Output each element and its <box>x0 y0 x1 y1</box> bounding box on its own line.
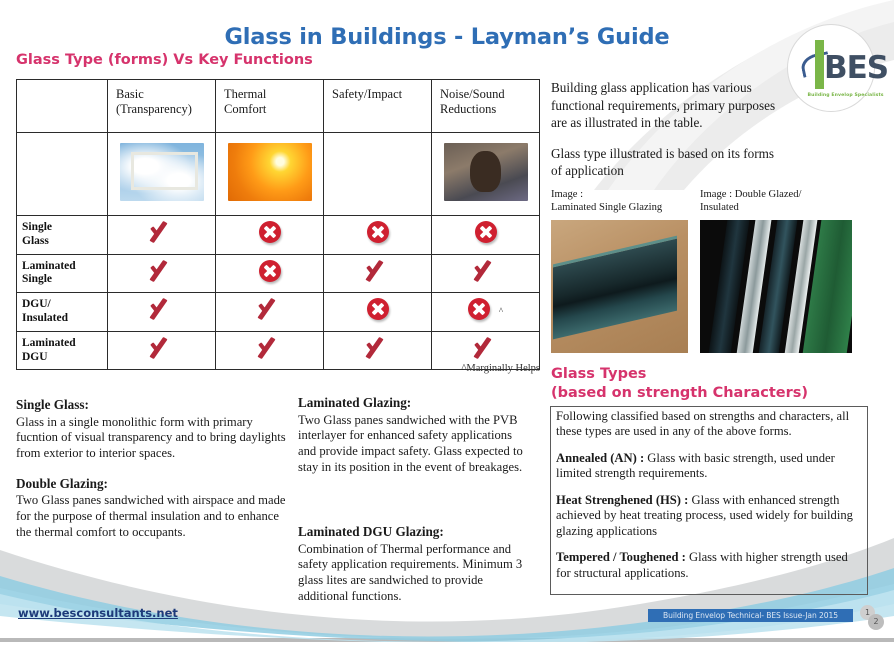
bes-logo: BES Building Envelop Specialists <box>787 24 875 120</box>
cross-icon <box>259 260 281 282</box>
intro-paragraph-2: Glass type illustrated is based on its f… <box>551 145 786 180</box>
table-row: DGU/Insulated ^ <box>17 293 540 332</box>
window-sky-thumbnail <box>120 143 204 201</box>
description-title-laminated-dgu: Laminated DGU Glazing: <box>298 524 530 541</box>
photo-caption-dgu: Image : Double Glazed/Insulated <box>700 188 850 214</box>
cell-single-basic <box>108 216 216 255</box>
description-laminated-glazing: Laminated Glazing: Two Glass panes sandw… <box>298 395 530 489</box>
cross-icon <box>367 221 389 243</box>
check-icon <box>363 258 393 284</box>
cracked-glass-thumbnail <box>336 143 420 201</box>
website-url-link[interactable]: www.besconsultants.net <box>18 606 178 620</box>
cell-dgu-noise: ^ <box>432 293 540 332</box>
table-row: SingleGlass <box>17 216 540 255</box>
page-number-group: 1 2 <box>860 605 890 635</box>
check-icon <box>147 296 177 322</box>
table-footnote: ^Marginally Helps <box>16 363 540 374</box>
double-glazed-insulated-photo <box>700 220 852 353</box>
bottom-rule <box>0 638 894 642</box>
logo-green-bar-icon <box>815 44 824 89</box>
cell-single-noise <box>432 216 540 255</box>
intro-text-block: Building glass application has various f… <box>551 79 786 193</box>
row-label-laminated-single: LaminatedSingle <box>17 254 108 293</box>
description-body-laminated-dgu: Combination of Thermal performance and s… <box>298 542 530 605</box>
cell-dgu-basic <box>108 293 216 332</box>
table-row: LaminatedSingle <box>17 254 540 293</box>
page-number-bottom: 2 <box>868 614 884 630</box>
table-image-row <box>17 133 540 216</box>
cross-icon <box>367 298 389 320</box>
description-body-single-glass: Glass in a single monolithic form with p… <box>16 415 286 462</box>
column-header-basic: Basic(Transparency) <box>108 80 216 133</box>
table-corner-cell <box>17 80 108 133</box>
check-icon <box>363 335 393 361</box>
cross-icon <box>468 298 490 320</box>
glass-type-heat-strengthened: Heat Strenghened (HS) : Glass with enhan… <box>556 493 864 539</box>
glass-types-heading-line1: Glass Types <box>551 366 646 382</box>
glass-type-tempered-term: Tempered / Toughened : <box>556 550 686 564</box>
photo-caption-laminated: Image :Laminated Single Glazing <box>551 188 681 214</box>
glass-type-tempered: Tempered / Toughened : Glass with higher… <box>556 550 864 581</box>
page-title: Glass in Buildings - Layman’s Guide <box>0 24 894 50</box>
cell-single-safety <box>324 216 432 255</box>
check-icon <box>255 335 285 361</box>
cell-single-thermal <box>216 216 324 255</box>
row-label-single-glass: SingleGlass <box>17 216 108 255</box>
cross-icon <box>259 221 281 243</box>
cell-lamsingle-safety <box>324 254 432 293</box>
glass-types-content: Following classified based on strengths … <box>556 409 864 592</box>
cell-dgu-thermal <box>216 293 324 332</box>
glass-types-intro: Following classified based on strengths … <box>556 409 864 440</box>
sun-heat-thumbnail <box>228 143 312 201</box>
cell-image-safety <box>324 133 432 216</box>
column-header-thermal: ThermalComfort <box>216 80 324 133</box>
column-header-noise: Noise/SoundReductions <box>432 80 540 133</box>
glass-type-hs-term: Heat Strenghened (HS) : <box>556 493 688 507</box>
glass-type-vs-function-table: Basic(Transparency) ThermalComfort Safet… <box>16 79 540 370</box>
cross-icon <box>475 221 497 243</box>
description-title-single-glass: Single Glass: <box>16 397 286 414</box>
cell-image-thermal <box>216 133 324 216</box>
glass-types-heading-line2: (based on strength Characters) <box>551 385 808 401</box>
laminated-single-glazing-photo <box>551 220 688 353</box>
cell-lamsingle-thermal <box>216 254 324 293</box>
cell-image-basic <box>108 133 216 216</box>
section-heading: Glass Type (forms) Vs Key Functions <box>16 52 313 68</box>
glass-types-heading: Glass Types (based on strength Character… <box>551 365 851 402</box>
cell-image-noise <box>432 133 540 216</box>
check-icon <box>147 219 177 245</box>
check-icon <box>471 335 501 361</box>
cell-lamsingle-basic <box>108 254 216 293</box>
check-icon <box>147 335 177 361</box>
description-title-laminated-glazing: Laminated Glazing: <box>298 395 530 412</box>
description-body-laminated-glazing: Two Glass panes sandwiched with the PVB … <box>298 413 530 476</box>
marginal-helps-marker: ^ <box>499 306 503 316</box>
footer-issue-badge: Building Envelop Technical- BES Issue-Ja… <box>648 609 853 622</box>
description-laminated-dgu-glazing: Laminated DGU Glazing: Combination of Th… <box>298 524 530 618</box>
glass-type-annealed-term: Annealed (AN) : <box>556 451 644 465</box>
description-column-left: Single Glass: Glass in a single monolith… <box>16 397 286 554</box>
column-header-safety: Safety/Impact <box>324 80 432 133</box>
description-title-double-glazing: Double Glazing: <box>16 476 286 493</box>
intro-paragraph-1: Building glass application has various f… <box>551 79 786 132</box>
table-header-row: Basic(Transparency) ThermalComfort Safet… <box>17 80 540 133</box>
noisy-street-thumbnail <box>444 143 528 201</box>
logo-tagline: Building Envelop Specialists <box>807 93 872 98</box>
cell-dgu-safety <box>324 293 432 332</box>
check-icon <box>471 258 501 284</box>
glass-type-annealed: Annealed (AN) : Glass with basic strengt… <box>556 451 864 482</box>
poster-page: Glass in Buildings - Layman’s Guide BES … <box>0 0 894 645</box>
description-body-double-glazing: Two Glass panes sandwiched with airspace… <box>16 493 286 540</box>
cell-lamsingle-noise <box>432 254 540 293</box>
row-label-dgu-insulated: DGU/Insulated <box>17 293 108 332</box>
logo-wordmark: BES <box>824 50 888 86</box>
image-row-blank <box>17 133 108 216</box>
check-icon <box>147 258 177 284</box>
check-icon <box>255 296 285 322</box>
